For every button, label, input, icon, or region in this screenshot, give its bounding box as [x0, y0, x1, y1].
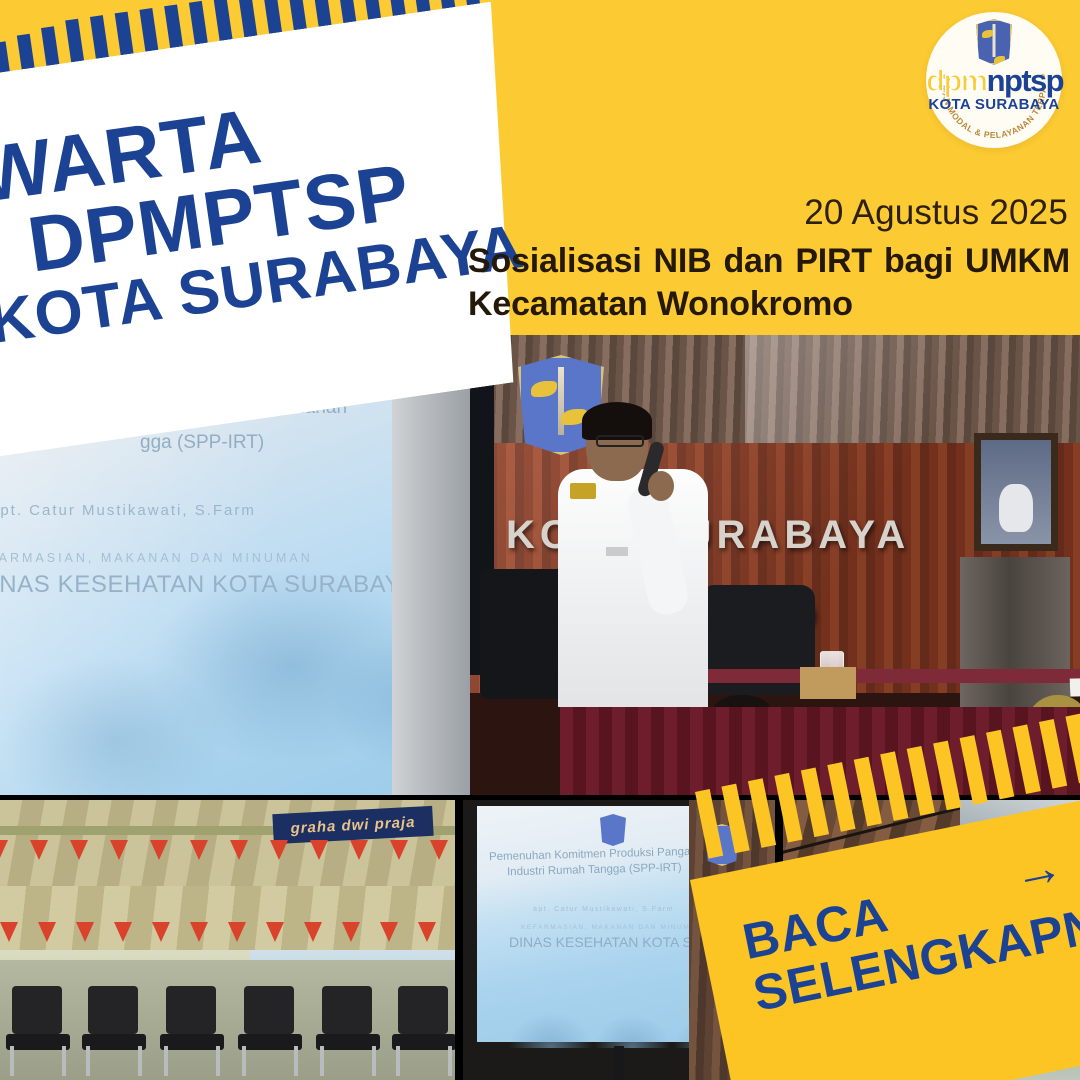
- screen-stand: [614, 1046, 624, 1080]
- speaker-person: [552, 407, 712, 707]
- arrow-right-icon: →: [1008, 836, 1069, 903]
- logo-word-dpm: dpm: [926, 63, 987, 98]
- slide-text-organization: DINAS KESEHATAN KOTA SURABAYA: [0, 571, 416, 599]
- photo-gutter-vertical-1: [455, 800, 463, 1080]
- title-card: WARTA DPMPTSP KOTA SURABAYA: [0, 0, 546, 462]
- photo-audience[interactable]: graha dwi praja: [0, 800, 455, 1080]
- snack-box: [800, 667, 856, 699]
- slide-text-presenter: apt. Catur Mustikawati, S.Farm: [0, 502, 256, 519]
- event-title-line1: Sosialisasi NIB dan PIRT bagi UMKM: [468, 240, 1070, 283]
- poster-canvas: Pangan Olahan gga (SPP-IRT) apt. Catur M…: [0, 0, 1080, 1080]
- slide-text-division: KEFARMASIAN, MAKANAN DAN MINUMAN: [0, 551, 313, 565]
- logo-wordmark: dpmnptsp: [926, 65, 1062, 96]
- speaker-hand: [648, 471, 674, 501]
- surabaya-crest-icon: [600, 814, 626, 846]
- title-word: bagi: [884, 240, 953, 283]
- speaker-glasses-icon: [596, 435, 644, 447]
- document-paper: [1070, 675, 1080, 696]
- event-date: 20 Agustus 2025: [804, 193, 1068, 233]
- surabaya-crest-icon: [976, 19, 1012, 65]
- dpmptsp-logo[interactable]: DINAS PENANAMAN MODAL & PELAYANAN TERPAD…: [926, 12, 1062, 148]
- event-title: Sosialisasi NIB dan PIRT bagi UMKM Kecam…: [468, 240, 1070, 326]
- bm-slide-presenter: apt. Catur Mustikawati, S.Farm: [533, 906, 674, 913]
- shoulder-badge: [570, 483, 596, 499]
- logo-word-ptsp: nptsp: [987, 63, 1063, 98]
- name-tag: [606, 547, 628, 556]
- bunting-flags-row1: [0, 840, 455, 864]
- slide-right-wall: [392, 335, 470, 795]
- metal-cabinet: [960, 557, 1070, 707]
- title-word: Sosialisasi: [468, 240, 642, 283]
- logo-subtitle: KOTA SURABAYA: [926, 96, 1062, 113]
- framed-portrait: [974, 433, 1058, 551]
- title-word: NIB: [654, 240, 712, 283]
- title-word: UMKM: [965, 240, 1070, 283]
- bm-slide-line2: Industri Rumah Tangga (SPP-IRT): [507, 862, 682, 879]
- folding-chairs: [0, 960, 455, 1080]
- photo-main-speaker-scene: KOTA SURABAYA WONOKROMO: [470, 335, 1080, 795]
- bm-slide-division: KEFARMASIAN, MAKANAN DAN MINUMAN: [521, 924, 703, 931]
- title-word: PIRT: [795, 240, 872, 283]
- title-word: dan: [723, 240, 783, 283]
- event-title-line2: Kecamatan Wonokromo: [468, 283, 1070, 326]
